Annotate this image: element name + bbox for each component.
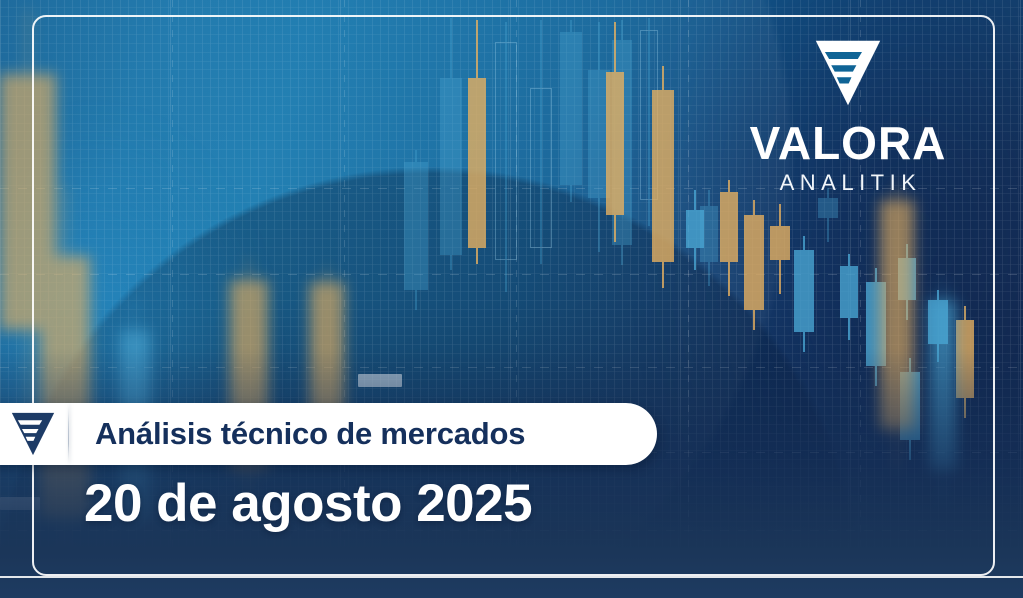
banner-image: VALORA ANALITIK Análisis técnico de merc… [0, 0, 1023, 598]
valora-arrow-icon [813, 36, 883, 110]
title-banner: Análisis técnico de mercados [0, 403, 657, 465]
banner-divider [68, 403, 69, 465]
valora-arrow-icon [10, 410, 56, 458]
brand-lockup: VALORA ANALITIK [733, 36, 963, 196]
brand-name: VALORA [733, 120, 963, 166]
banner-logo-cell [0, 403, 72, 465]
bottom-rule [0, 576, 1023, 578]
banner-title: Análisis técnico de mercados [73, 416, 525, 452]
brand-tagline: ANALITIK [733, 170, 963, 196]
date-headline: 20 de agosto 2025 [84, 473, 532, 534]
